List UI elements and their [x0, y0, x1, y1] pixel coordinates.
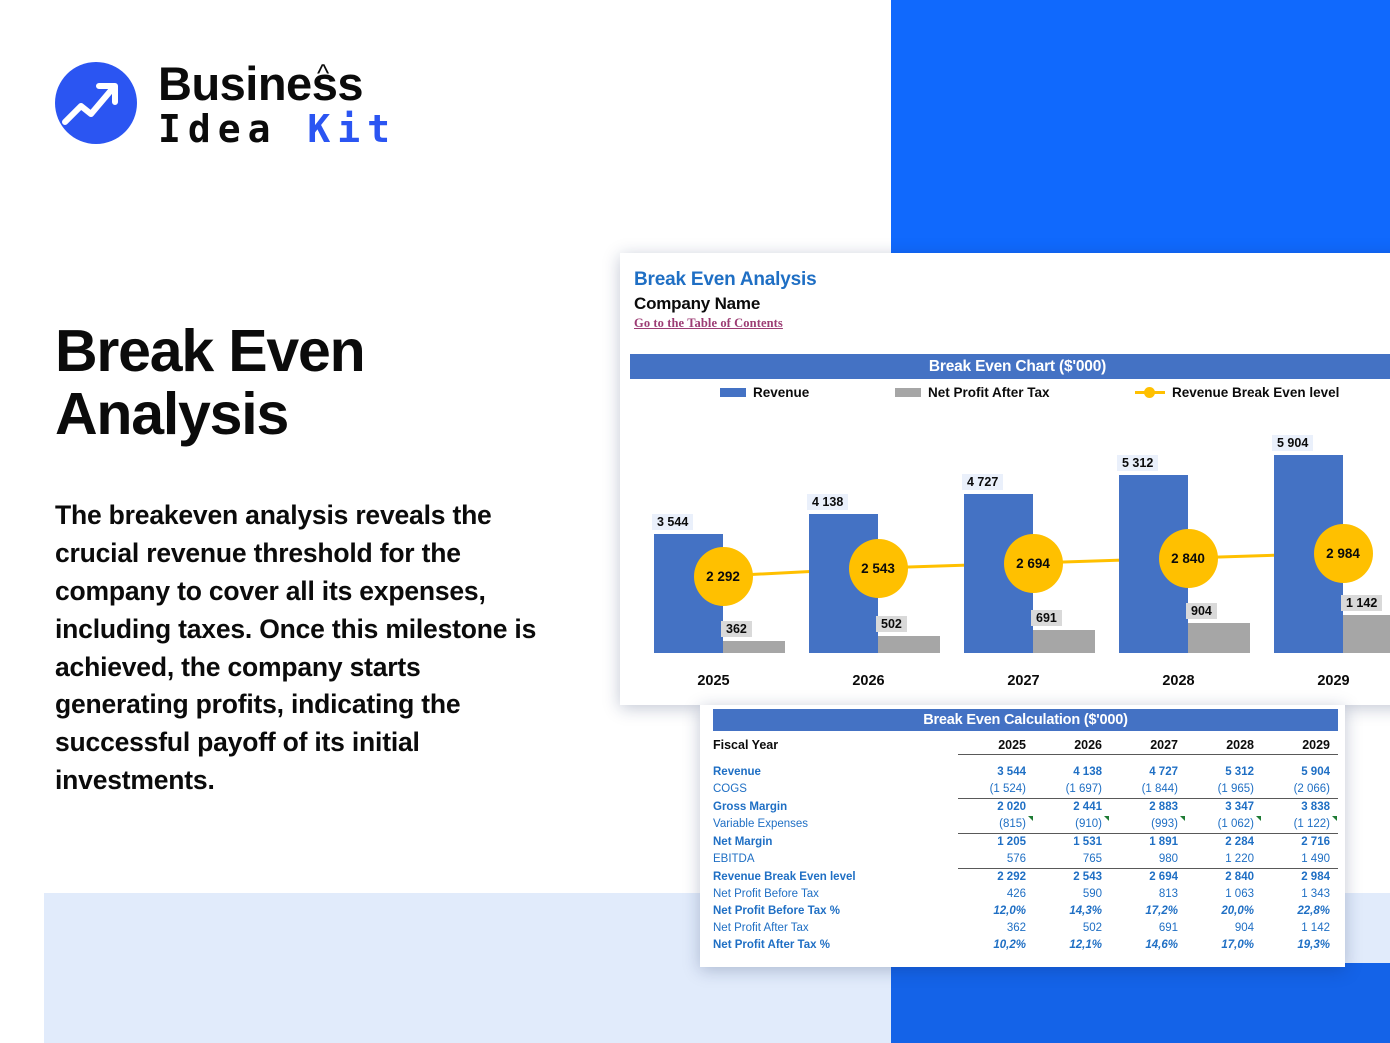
- table-cell-2028: 20,0%: [1186, 903, 1262, 920]
- break-even-node-2025[interactable]: 2 292: [694, 547, 753, 606]
- table-cell-2025: 2 020: [958, 798, 1034, 816]
- table-row-label: Net Profit Before Tax: [713, 886, 958, 903]
- table-col-header-2026: 2026: [1034, 735, 1110, 755]
- table-row-label: Revenue Break Even level: [713, 868, 958, 886]
- table-cell-2028: 5 312: [1186, 764, 1262, 781]
- chart-plot-area: 3 544 362 4 138 502 4 727 691 5 312 904: [630, 413, 1390, 705]
- table-cell-2028: 2 284: [1186, 833, 1262, 851]
- table-row-header-label: Fiscal Year: [713, 735, 958, 755]
- break-even-node-2026[interactable]: 2 543: [849, 539, 908, 598]
- table-cell-2027: 17,2%: [1110, 903, 1186, 920]
- table-cell-2028: 2 840: [1186, 868, 1262, 886]
- table-cell-2025: 3 544: [958, 764, 1034, 781]
- table-title-bar: Break Even Calculation ($'000): [713, 709, 1338, 731]
- table-row-label: EBITDA: [713, 851, 958, 869]
- table-cell-2026: (910): [1034, 816, 1110, 834]
- brand-circumflex-accent: ^: [317, 58, 329, 89]
- table-cell-2028: (1 062): [1186, 816, 1262, 834]
- spacer-cell: [1186, 755, 1262, 764]
- break-even-node-2027[interactable]: 2 694: [1004, 534, 1063, 593]
- spacer-cell: [1034, 755, 1110, 764]
- table-cell-2029: 22,8%: [1262, 903, 1338, 920]
- spacer-cell: [713, 755, 958, 764]
- table-cell-2028: 17,0%: [1186, 937, 1262, 954]
- table-cell-2025: 12,0%: [958, 903, 1034, 920]
- brand-word-bottom: Idea Kit: [158, 110, 397, 148]
- brand-word-bottom-plain: Idea: [158, 107, 307, 151]
- growth-arrow-icon: [55, 62, 137, 144]
- sheet-title: Break Even Analysis: [634, 269, 816, 291]
- table-col-header-2029: 2029: [1262, 735, 1338, 755]
- spacer-cell: [1262, 755, 1338, 764]
- bar-label-npat-2029: 1 142: [1341, 595, 1382, 611]
- slide-canvas: Business ^ Idea Kit Break Even Analysis …: [0, 0, 1390, 1043]
- decorative-notch-left: [0, 893, 44, 1043]
- x-tick-2029: 2029: [1256, 673, 1390, 689]
- brand-word-bottom-accent: Kit: [307, 107, 397, 151]
- legend-swatch-net-profit-after-tax: [895, 388, 921, 397]
- table-row-label: Variable Expenses: [713, 816, 958, 834]
- table-cell-2025: 10,2%: [958, 937, 1034, 954]
- table-cell-2026: 765: [1034, 851, 1110, 869]
- legend-item-revenue-break-even-level[interactable]: Revenue Break Even level: [1135, 385, 1339, 400]
- table-cell-2026: 2 441: [1034, 798, 1110, 816]
- brand-logo: Business ^ Idea Kit: [55, 52, 435, 157]
- table-cell-2026: 14,3%: [1034, 903, 1110, 920]
- chart-legend: Revenue Net Profit After Tax Revenue Bre…: [630, 385, 1390, 407]
- table-cell-2027: 2 694: [1110, 868, 1186, 886]
- table-cell-2025: (815): [958, 816, 1034, 834]
- table-cell-2025: 426: [958, 886, 1034, 903]
- table-cell-2028: 1 220: [1186, 851, 1262, 869]
- legend-item-revenue[interactable]: Revenue: [720, 385, 809, 400]
- break-even-calculation-card: Break Even Calculation ($'000) Fiscal Ye…: [700, 705, 1345, 967]
- table-cell-2026: 1 531: [1034, 833, 1110, 851]
- table-cell-2027: 4 727: [1110, 764, 1186, 781]
- table-cell-2027: 813: [1110, 886, 1186, 903]
- legend-label-net-profit-after-tax: Net Profit After Tax: [928, 385, 1050, 400]
- page-title: Break Even Analysis: [55, 320, 525, 446]
- bar-label-npat-2025: 362: [721, 621, 752, 637]
- table-cell-2029: 1 343: [1262, 886, 1338, 903]
- table-row: Net Margin1 2051 5311 8912 2842 716: [713, 833, 1338, 851]
- decorative-block-top-right: [891, 0, 1390, 256]
- table-cell-2028: (1 965): [1186, 781, 1262, 799]
- table-col-header-2025: 2025: [958, 735, 1034, 755]
- table-cell-2029: 1 490: [1262, 851, 1338, 869]
- table-row-label: Net Profit After Tax: [713, 920, 958, 937]
- table-cell-2029: 3 838: [1262, 798, 1338, 816]
- description-paragraph: The breakeven analysis reveals the cruci…: [55, 497, 545, 800]
- table-cell-2029: (1 122): [1262, 816, 1338, 834]
- table-cell-2028: 1 063: [1186, 886, 1262, 903]
- bar-npat-2028[interactable]: [1188, 623, 1250, 653]
- legend-label-revenue: Revenue: [753, 385, 809, 400]
- table-cell-2028: 904: [1186, 920, 1262, 937]
- break-even-calculation-table: Fiscal Year20252026202720282029Revenue3 …: [713, 735, 1338, 954]
- table-cell-2026: 2 543: [1034, 868, 1110, 886]
- table-cell-2025: 576: [958, 851, 1034, 869]
- table-row: Net Profit After Tax %10,2%12,1%14,6%17,…: [713, 937, 1338, 954]
- table-cell-2025: 362: [958, 920, 1034, 937]
- table-cell-2029: (2 066): [1262, 781, 1338, 799]
- bar-npat-2029[interactable]: [1343, 615, 1390, 653]
- brand-word-top: Business: [158, 60, 363, 107]
- x-tick-2025: 2025: [636, 673, 791, 689]
- table-row: Net Profit After Tax3625026919041 142: [713, 920, 1338, 937]
- bar-npat-2026[interactable]: [878, 636, 940, 653]
- x-tick-2028: 2028: [1101, 673, 1256, 689]
- table-col-header-2028: 2028: [1186, 735, 1262, 755]
- bar-label-revenue-2029: 5 904: [1272, 435, 1313, 451]
- table-row-label: Net Profit After Tax %: [713, 937, 958, 954]
- table-of-contents-link[interactable]: Go to the Table of Contents: [634, 316, 783, 331]
- bar-label-revenue-2026: 4 138: [807, 494, 848, 510]
- table-cell-2029: 19,3%: [1262, 937, 1338, 954]
- table-row-label: Gross Margin: [713, 798, 958, 816]
- break-even-node-2029[interactable]: 2 984: [1314, 524, 1373, 583]
- legend-swatch-revenue: [720, 388, 746, 397]
- table-cell-2029: 5 904: [1262, 764, 1338, 781]
- table-row: Revenue Break Even level2 2922 5432 6942…: [713, 868, 1338, 886]
- table-spacer-row: [713, 755, 1338, 764]
- x-tick-2026: 2026: [791, 673, 946, 689]
- spacer-cell: [1110, 755, 1186, 764]
- decorative-block-bottom-right: [891, 963, 1390, 1043]
- x-tick-2027: 2027: [946, 673, 1101, 689]
- table-row: Gross Margin2 0202 4412 8833 3473 838: [713, 798, 1338, 816]
- table-cell-2028: 3 347: [1186, 798, 1262, 816]
- bar-label-npat-2027: 691: [1031, 610, 1062, 626]
- table-body: Fiscal Year20252026202720282029Revenue3 …: [713, 735, 1338, 954]
- spacer-cell: [958, 755, 1034, 764]
- table-cell-2026: 4 138: [1034, 764, 1110, 781]
- table-cell-2027: (1 844): [1110, 781, 1186, 799]
- bar-npat-2027[interactable]: [1033, 630, 1095, 653]
- table-row: Net Profit Before Tax4265908131 0631 343: [713, 886, 1338, 903]
- break-even-node-2028[interactable]: 2 840: [1159, 529, 1218, 588]
- table-row-label: Revenue: [713, 764, 958, 781]
- table-cell-2026: 590: [1034, 886, 1110, 903]
- table-cell-2027: 980: [1110, 851, 1186, 869]
- break-even-chart-card: Break Even Analysis Company Name Go to t…: [620, 253, 1390, 705]
- table-cell-2026: 12,1%: [1034, 937, 1110, 954]
- sheet-company: Company Name: [634, 294, 760, 314]
- bar-label-revenue-2028: 5 312: [1117, 455, 1158, 471]
- table-row: Revenue3 5444 1384 7275 3125 904: [713, 764, 1338, 781]
- table-cell-2026: 502: [1034, 920, 1110, 937]
- table-cell-2027: 2 883: [1110, 798, 1186, 816]
- table-row: EBITDA5767659801 2201 490: [713, 851, 1338, 869]
- table-cell-2027: 1 891: [1110, 833, 1186, 851]
- table-cell-2025: 1 205: [958, 833, 1034, 851]
- legend-line-marker-break-even: [1135, 391, 1165, 394]
- table-cell-2027: (993): [1110, 816, 1186, 834]
- bar-label-revenue-2027: 4 727: [962, 474, 1003, 490]
- bar-label-npat-2028: 904: [1186, 603, 1217, 619]
- table-cell-2025: (1 524): [958, 781, 1034, 799]
- table-cell-2029: 2 716: [1262, 833, 1338, 851]
- bar-npat-2025[interactable]: [723, 641, 785, 653]
- table-row-label: COGS: [713, 781, 958, 799]
- table-cell-2027: 691: [1110, 920, 1186, 937]
- table-cell-2026: (1 697): [1034, 781, 1110, 799]
- chart-title-bar: Break Even Chart ($'000): [630, 354, 1390, 379]
- table-row: Variable Expenses(815)(910)(993)(1 062)(…: [713, 816, 1338, 834]
- legend-label-revenue-break-even-level: Revenue Break Even level: [1172, 385, 1339, 400]
- table-row-label: Net Margin: [713, 833, 958, 851]
- table-col-header-2027: 2027: [1110, 735, 1186, 755]
- table-row: COGS(1 524)(1 697)(1 844)(1 965)(2 066): [713, 781, 1338, 799]
- bar-label-revenue-2025: 3 544: [652, 514, 693, 530]
- table-cell-2029: 2 984: [1262, 868, 1338, 886]
- legend-item-net-profit-after-tax[interactable]: Net Profit After Tax: [895, 385, 1050, 400]
- bar-label-npat-2026: 502: [876, 616, 907, 632]
- table-header-row: Fiscal Year20252026202720282029: [713, 735, 1338, 755]
- table-cell-2027: 14,6%: [1110, 937, 1186, 954]
- table-row: Net Profit Before Tax %12,0%14,3%17,2%20…: [713, 903, 1338, 920]
- table-cell-2029: 1 142: [1262, 920, 1338, 937]
- table-row-label: Net Profit Before Tax %: [713, 903, 958, 920]
- table-cell-2025: 2 292: [958, 868, 1034, 886]
